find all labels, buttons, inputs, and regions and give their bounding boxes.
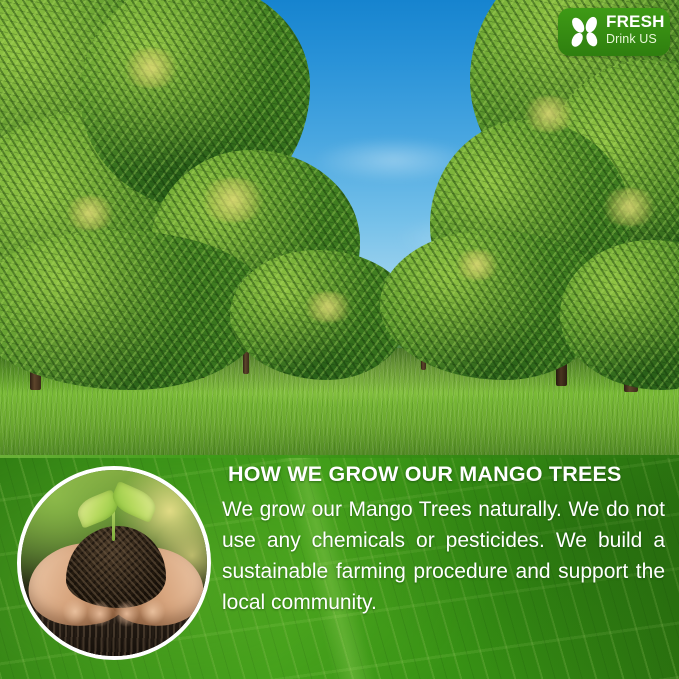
mango-orchard-photo: [0, 0, 679, 458]
leaf-cluster-icon: [565, 13, 604, 52]
mango-blossom: [452, 250, 502, 280]
circle-photo-frame: [17, 466, 211, 660]
mango-blossom: [62, 196, 118, 230]
logo-secondary-text: Drink US: [606, 33, 666, 47]
mango-blossom: [520, 96, 578, 132]
mango-blossom: [300, 292, 356, 322]
mango-blossom: [196, 178, 270, 222]
logo-text: FRESH Drink US: [606, 13, 666, 47]
logo-primary-text: FRESH: [606, 13, 666, 30]
hands-holding-seedling-photo: [17, 466, 211, 660]
fresh-drink-us-logo[interactable]: FRESH Drink US: [558, 8, 670, 56]
panel-text-block: HOW WE GROW OUR MANGO TREES We grow our …: [222, 463, 665, 618]
panel-top-border: [0, 455, 679, 458]
mango-blossom: [120, 48, 182, 88]
panel-body-text: We grow our Mango Trees naturally. We do…: [222, 494, 665, 618]
mango-blossom: [598, 188, 660, 226]
product-infographic: HOW WE GROW OUR MANGO TREES We grow our …: [0, 0, 679, 679]
fingers: [62, 593, 170, 630]
page-title: HOW WE GROW OUR MANGO TREES: [228, 463, 665, 487]
